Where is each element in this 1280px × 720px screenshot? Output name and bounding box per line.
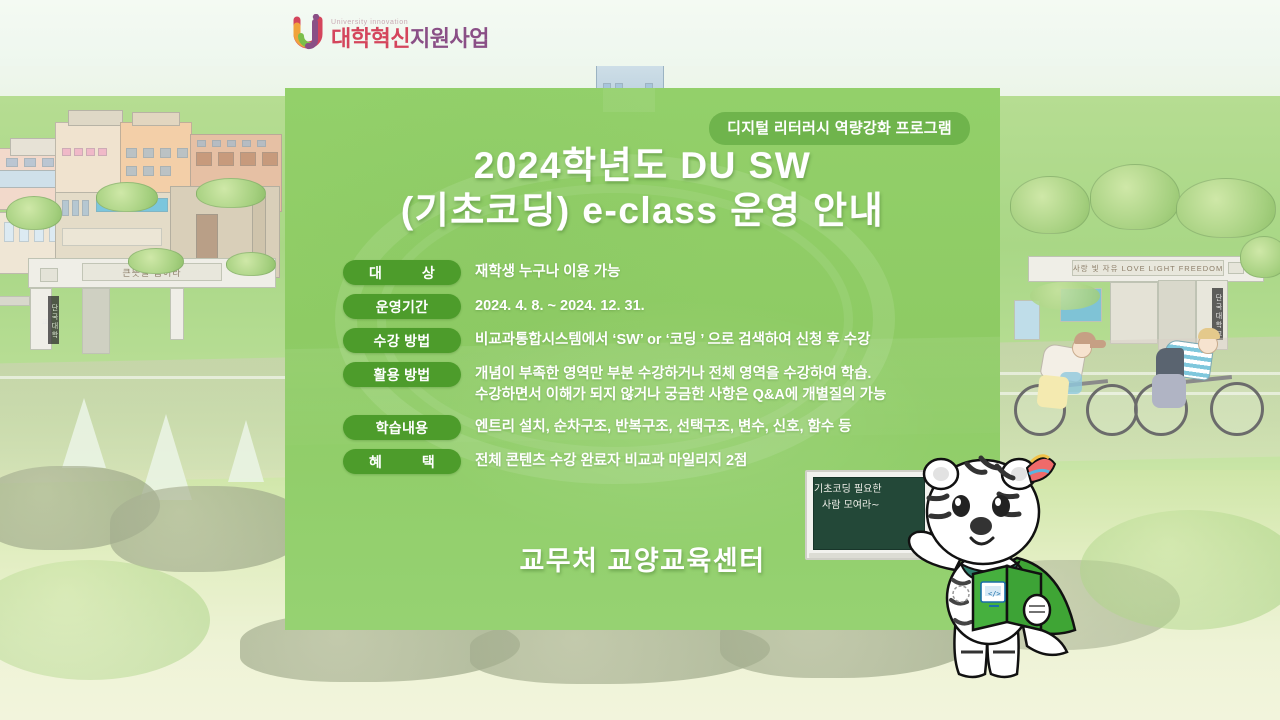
info-value-usage-method: 개념이 부족한 영역만 부분 수강하거나 전체 영역을 수강하여 학습. 수강하… — [475, 362, 886, 406]
logo-text-group: University innovation 대학혁신지원사업 — [331, 19, 489, 50]
info-label-enrollment-method: 수강 방법 — [343, 328, 461, 353]
info-label-benefit: 혜 택 — [343, 449, 461, 474]
info-value-curriculum: 엔트리 설치, 순차구조, 반복구조, 선택구조, 변수, 신호, 함수 등 — [475, 415, 852, 438]
program-badge: 디지털 리터러시 역량강화 프로그램 — [709, 112, 970, 145]
info-label-benefit-char1: 혜 — [369, 452, 382, 472]
info-value-benefit: 전체 콘텐츠 수강 완료자 비교과 마일리지 2점 — [475, 449, 747, 472]
poster-title-line2: (기초코딩) e-class 운영 안내 — [285, 188, 1000, 233]
info-value-usage-line2: 수강하면서 이해가 되지 않거나 궁금한 사항은 Q&A에 개별질의 가능 — [475, 385, 886, 406]
info-value-usage-line1: 개념이 부족한 영역만 부분 수강하거나 전체 영역을 수강하여 학습. — [475, 366, 871, 382]
info-value-period: 2024. 4. 8. ~ 2024. 12. 31. — [475, 294, 645, 317]
info-label-target-char1: 대 — [369, 263, 382, 283]
poster-title: 2024학년도 DU SW (기초코딩) e-class 운영 안내 — [285, 143, 1000, 233]
university-innovation-logo: University innovation 대학혁신지원사업 — [293, 14, 489, 50]
info-rows: 대 상 재학생 누구나 이용 가능 운영기간 2024. 4. 8. ~ 202… — [343, 260, 980, 483]
svg-text:</>: </> — [988, 590, 1001, 598]
gate-right-sign-text: 사랑 빛 자유 LOVE LIGHT FREEDOM — [1072, 260, 1224, 276]
info-label-target-char2: 상 — [422, 263, 435, 283]
info-label-benefit-char2: 택 — [422, 452, 435, 472]
info-row-enrollment-method: 수강 방법 비교과통합시스템에서 ‘SW’ or ‘코딩 ’ 으로 검색하여 신… — [343, 328, 980, 353]
u-logo-mark-icon — [293, 14, 327, 50]
info-row-period: 운영기간 2024. 4. 8. ~ 2024. 12. 31. — [343, 294, 980, 319]
info-label-target: 대 상 — [343, 260, 461, 285]
logo-title-part2: 지원사업 — [410, 26, 489, 51]
logo-title: 대학혁신지원사업 — [331, 28, 489, 50]
poster-title-line1: 2024학년도 DU SW — [285, 143, 1000, 188]
logo-title-part1: 대학혁신 — [331, 26, 410, 51]
header-bar: University innovation 대학혁신지원사업 — [0, 0, 1280, 66]
info-row-target: 대 상 재학생 누구나 이용 가능 — [343, 260, 980, 285]
blackboard-line1: 기초코딩 필요한 — [814, 484, 882, 495]
info-row-usage-method: 활용 방법 개념이 부족한 영역만 부분 수강하거나 전체 영역을 수강하여 학… — [343, 362, 980, 406]
logo-subtitle: University innovation — [331, 19, 489, 26]
cyclist-right — [1130, 318, 1280, 442]
info-value-target: 재학생 누구나 이용 가능 — [475, 260, 621, 283]
info-label-period: 운영기간 — [343, 294, 461, 319]
gate-left-banner: 단국대학교 — [48, 296, 59, 344]
info-value-enrollment-method: 비교과통합시스템에서 ‘SW’ or ‘코딩 ’ 으로 검색하여 신청 후 수강 — [475, 328, 870, 351]
tiger-mascot-svg: </> — [905, 440, 1105, 690]
info-label-curriculum: 학습내용 — [343, 415, 461, 440]
info-row-curriculum: 학습내용 엔트리 설치, 순차구조, 반복구조, 선택구조, 변수, 신호, 함… — [343, 415, 980, 440]
info-label-usage-method: 활용 방법 — [343, 362, 461, 387]
tiger-mascot: </> — [905, 440, 1105, 690]
